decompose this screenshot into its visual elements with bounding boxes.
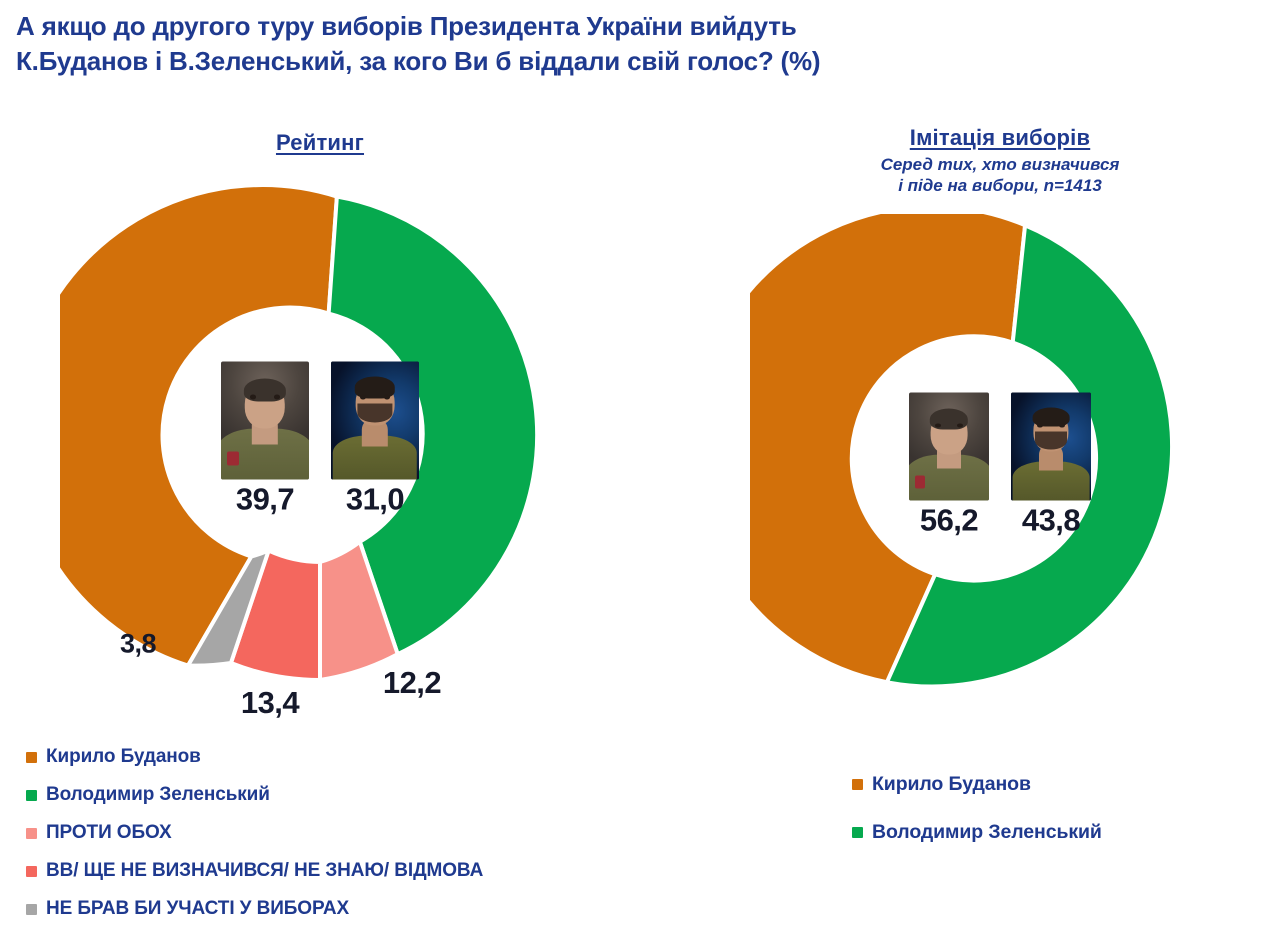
- legend-swatch-icon: [26, 904, 37, 915]
- legend-item[interactable]: ВВ/ ЩЕ НЕ ВИЗНАЧИВСЯ/ НЕ ЗНАЮ/ ВІДМОВА: [26, 852, 483, 890]
- candidate-zelensky-value: 43,8: [1022, 505, 1080, 536]
- legend-swatch-icon: [26, 828, 37, 839]
- legend-swatch-icon: [26, 866, 37, 877]
- candidate-budanov: 39,7: [221, 362, 309, 515]
- legend-swatch-icon: [852, 827, 863, 838]
- chart-simulation: Імітація виборів Серед тих, хто визначив…: [720, 125, 1280, 750]
- page-title: А якщо до другого туру виборів Президент…: [16, 9, 1016, 78]
- chart-simulation-subheading: Серед тих, хто визначився і піде на вибо…: [720, 155, 1280, 196]
- legend-item[interactable]: НЕ БРАВ БИ УЧАСТІ У ВИБОРАХ: [26, 890, 483, 928]
- zelensky-portrait: [1011, 393, 1091, 501]
- candidate-budanov-value: 39,7: [236, 484, 294, 515]
- budanov-portrait: [909, 393, 989, 501]
- budanov-portrait: [221, 362, 309, 480]
- chart-rating: Рейтинг 3,8 13,4 12,2: [10, 130, 630, 750]
- legend-item-label: Володимир Зеленський: [46, 784, 270, 806]
- zelensky-portrait: [331, 362, 419, 480]
- legend-item[interactable]: Кирило Буданов: [852, 760, 1102, 808]
- legend-item[interactable]: Володимир Зеленський: [852, 808, 1102, 856]
- legend-item[interactable]: Кирило Буданов: [26, 738, 483, 776]
- donut-chart-simulation: 56,2 43,8: [750, 214, 1250, 714]
- candidate-budanov: 56,2: [909, 393, 989, 536]
- candidate-budanov-value: 56,2: [920, 505, 978, 536]
- legend-item-label: НЕ БРАВ БИ УЧАСТІ У ВИБОРАХ: [46, 898, 349, 920]
- legend-swatch-icon: [852, 779, 863, 790]
- legend-item[interactable]: ПРОТИ ОБОХ: [26, 814, 483, 852]
- slice-label-undecided: 13,4: [241, 685, 299, 721]
- center-cluster-simulation: 56,2 43,8: [909, 393, 1091, 536]
- slice-label-against-both: 12,2: [383, 665, 441, 701]
- center-cluster-rating: 39,7 31,0: [221, 362, 419, 515]
- candidate-zelensky: 31,0: [331, 362, 419, 515]
- legend-item[interactable]: Володимир Зеленський: [26, 776, 483, 814]
- legend-item-label: Кирило Буданов: [46, 746, 201, 768]
- legend-item-label: Володимир Зеленський: [872, 821, 1102, 844]
- legend-rating: Кирило Буданов Володимир Зеленський ПРОТ…: [26, 738, 483, 928]
- donut-chart-rating: 3,8 13,4 12,2 39,7: [60, 178, 580, 698]
- legend-swatch-icon: [26, 752, 37, 763]
- candidate-zelensky: 43,8: [1011, 393, 1091, 536]
- chart-rating-heading: Рейтинг: [10, 130, 630, 156]
- legend-item-label: ВВ/ ЩЕ НЕ ВИЗНАЧИВСЯ/ НЕ ЗНАЮ/ ВІДМОВА: [46, 860, 483, 882]
- legend-item-label: Кирило Буданов: [872, 773, 1031, 796]
- legend-swatch-icon: [26, 790, 37, 801]
- chart-simulation-heading: Імітація виборів: [720, 125, 1280, 151]
- candidate-zelensky-value: 31,0: [346, 484, 404, 515]
- slice-label-no-vote: 3,8: [120, 629, 156, 660]
- legend-simulation: Кирило Буданов Володимир Зеленський: [852, 760, 1102, 856]
- legend-item-label: ПРОТИ ОБОХ: [46, 822, 172, 844]
